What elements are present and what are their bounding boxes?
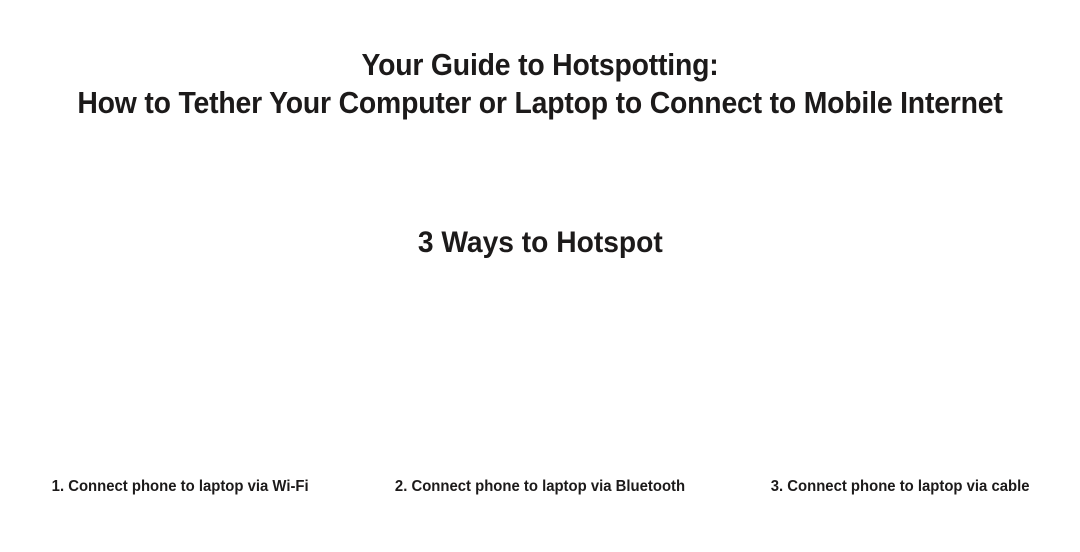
infographic-page: Your Guide to Hotspotting: How to Tether… — [0, 0, 1080, 552]
method-illustration-cable — [720, 290, 1080, 476]
page-title-line-1: Your Guide to Hotspotting: — [46, 46, 1034, 84]
method-item-bluetooth: 2. Connect phone to laptop via Bluetooth — [360, 290, 720, 520]
section-heading: 3 Ways to Hotspot — [0, 224, 1080, 262]
method-caption-wifi: 1. Connect phone to laptop via Wi-Fi — [52, 476, 309, 520]
method-illustration-wifi — [0, 290, 360, 476]
method-illustration-bluetooth — [360, 290, 720, 476]
method-item-wifi: 1. Connect phone to laptop via Wi-Fi — [0, 290, 360, 520]
methods-row: 1. Connect phone to laptop via Wi-Fi 2. … — [0, 290, 1080, 520]
method-caption-bluetooth: 2. Connect phone to laptop via Bluetooth — [395, 476, 685, 520]
page-title: Your Guide to Hotspotting: How to Tether… — [0, 46, 1080, 122]
method-item-cable: 3. Connect phone to laptop via cable — [720, 290, 1080, 520]
page-title-line-2: How to Tether Your Computer or Laptop to… — [46, 84, 1034, 122]
method-caption-cable: 3. Connect phone to laptop via cable — [771, 476, 1030, 520]
section-heading-text: 3 Ways to Hotspot — [418, 224, 663, 262]
